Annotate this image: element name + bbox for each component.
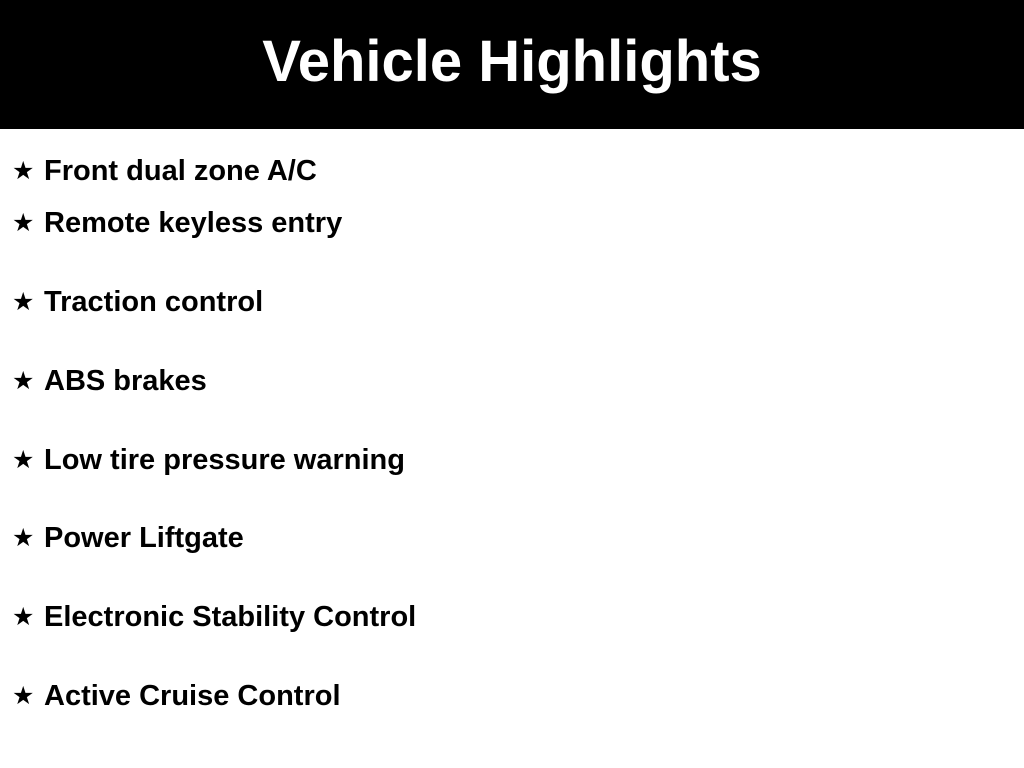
star-bullet-icon: ★ bbox=[12, 287, 44, 317]
highlight-label: Electronic Stability Control bbox=[44, 602, 416, 632]
highlight-label: Front dual zone A/C bbox=[44, 156, 317, 186]
star-bullet-icon: ★ bbox=[12, 681, 44, 711]
list-item: ★ Traction control bbox=[0, 287, 1024, 366]
list-item: ★ Low tire pressure warning bbox=[0, 445, 1024, 524]
star-bullet-icon: ★ bbox=[12, 602, 44, 632]
list-item: ★ Remote keyless entry bbox=[0, 208, 1024, 287]
highlight-label: ABS brakes bbox=[44, 366, 207, 396]
list-item: ★ Electronic Stability Control bbox=[0, 602, 1024, 681]
vehicle-highlights-list: ★ Front dual zone A/C ★ Remote keyless e… bbox=[0, 129, 1024, 760]
highlight-label: Traction control bbox=[44, 287, 263, 317]
list-item: ★ Front dual zone A/C bbox=[0, 129, 1024, 208]
star-bullet-icon: ★ bbox=[12, 366, 44, 396]
star-bullet-icon: ★ bbox=[12, 208, 44, 238]
list-item: ★ Active Cruise Control bbox=[0, 681, 1024, 760]
highlight-label: Power Liftgate bbox=[44, 523, 244, 553]
slide-header-band: Vehicle Highlights bbox=[0, 0, 1024, 129]
vehicle-highlights-slide: Vehicle Highlights ★ Front dual zone A/C… bbox=[0, 0, 1024, 768]
list-item: ★ ABS brakes bbox=[0, 366, 1024, 445]
highlight-label: Low tire pressure warning bbox=[44, 445, 405, 475]
star-bullet-icon: ★ bbox=[12, 445, 44, 475]
page-title: Vehicle Highlights bbox=[262, 33, 762, 91]
highlight-label: Remote keyless entry bbox=[44, 208, 342, 238]
list-item: ★ Power Liftgate bbox=[0, 523, 1024, 602]
star-bullet-icon: ★ bbox=[12, 156, 44, 186]
star-bullet-icon: ★ bbox=[12, 523, 44, 553]
highlight-label: Active Cruise Control bbox=[44, 681, 341, 711]
